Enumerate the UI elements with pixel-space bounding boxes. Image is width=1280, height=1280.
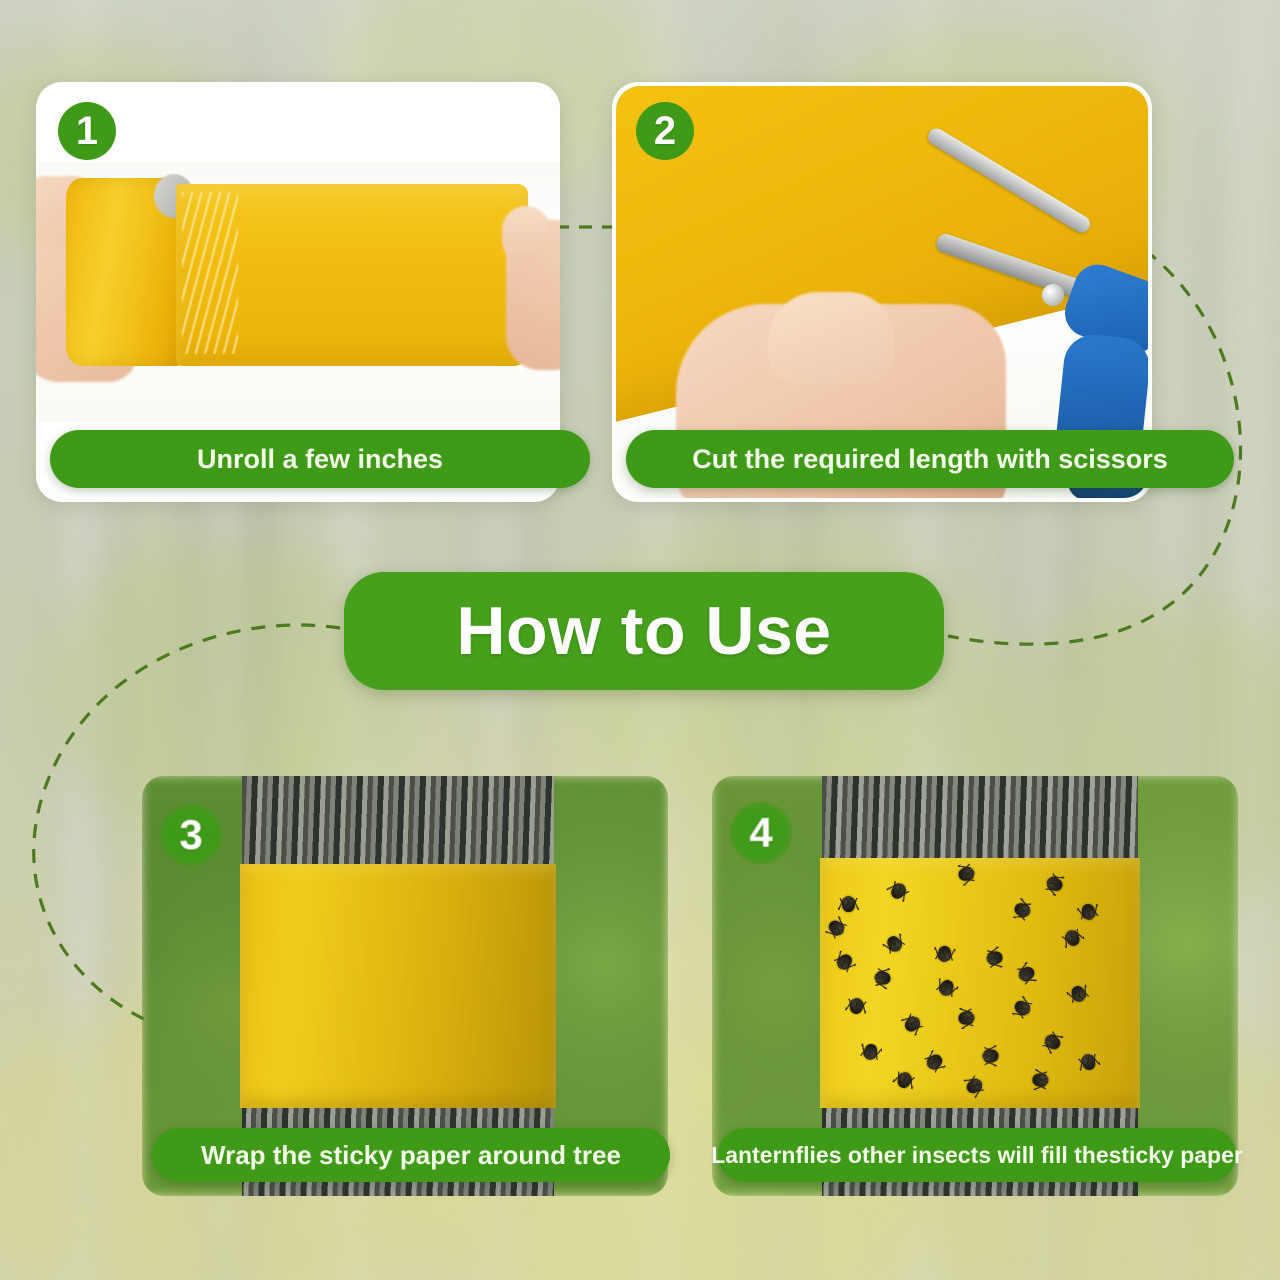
step-card-3[interactable]: 3 Wrap the sticky paper around tree: [142, 776, 668, 1196]
insect-legs: [987, 947, 1003, 970]
insect: [958, 1011, 975, 1026]
insect: [982, 1049, 998, 1062]
insect-legs: [1013, 898, 1032, 922]
insect: [874, 970, 892, 985]
insect-legs: [923, 1050, 945, 1074]
step-badge-3: 3: [160, 804, 222, 866]
insect-legs: [1041, 1030, 1063, 1054]
step-caption-4: Lanternflies other insects will fill the…: [718, 1128, 1236, 1182]
insect-legs: [882, 933, 906, 954]
insect: [1012, 998, 1032, 1017]
insect-legs: [1077, 1053, 1101, 1071]
insect-legs: [984, 1045, 996, 1066]
insect: [1032, 1073, 1049, 1087]
step-caption-3-text: Wrap the sticky paper around tree: [201, 1140, 621, 1171]
insect-legs: [1016, 962, 1036, 986]
insect: [957, 866, 976, 883]
insect: [1044, 875, 1064, 894]
insect-legs: [934, 978, 958, 998]
step-badge-4-number: 4: [749, 809, 772, 857]
insect-legs: [1034, 1069, 1047, 1091]
insect: [826, 918, 847, 938]
insect-legs: [958, 862, 975, 885]
insect-legs: [1045, 872, 1065, 896]
step-caption-2-text: Cut the required length with scissors: [692, 444, 1168, 475]
step-badge-2-number: 2: [654, 109, 676, 154]
step-badge-2: 2: [636, 102, 694, 160]
insect: [1080, 903, 1096, 921]
insect-legs: [825, 916, 848, 940]
step-1-photo: [36, 162, 560, 422]
insect: [924, 1052, 945, 1072]
step-caption-1: Unroll a few inches: [50, 430, 590, 488]
step-caption-1-text: Unroll a few inches: [197, 444, 443, 475]
insect-legs: [901, 1012, 924, 1036]
page-title: How to Use: [344, 572, 944, 690]
insect-legs: [1077, 904, 1100, 920]
insect-legs: [1067, 985, 1091, 1004]
insect-legs: [845, 998, 868, 1013]
step-badge-3-number: 3: [179, 811, 202, 859]
step-badge-1: 1: [58, 102, 116, 160]
step-card-1[interactable]: 1 Unroll a few inches: [36, 82, 560, 502]
insect: [937, 978, 956, 998]
insect-legs: [859, 1043, 882, 1060]
insect-legs: [959, 1007, 973, 1029]
insect: [937, 945, 951, 962]
scissor-pivot: [1042, 284, 1064, 306]
insect-legs: [1012, 996, 1033, 1020]
step-caption-4-text: Lanternflies other insects will fill the…: [711, 1142, 1243, 1169]
page-title-text: How to Use: [456, 592, 831, 670]
insect: [902, 1014, 923, 1034]
insect: [1080, 1052, 1097, 1071]
step-caption-3: Wrap the sticky paper around tree: [152, 1128, 670, 1182]
insect-legs: [875, 967, 890, 990]
insect-legs: [833, 951, 857, 974]
step-badge-4: 4: [730, 802, 792, 864]
insect-legs: [887, 880, 911, 902]
insect: [849, 997, 865, 1015]
insect: [842, 896, 855, 912]
insect: [1016, 965, 1036, 984]
step-caption-2: Cut the required length with scissors: [626, 430, 1234, 488]
insect: [985, 950, 1003, 966]
insect: [862, 1043, 879, 1062]
insect: [896, 1070, 914, 1089]
insect-legs: [838, 898, 859, 910]
step-badge-1-number: 1: [76, 109, 98, 154]
insect: [1013, 901, 1033, 919]
insect: [1042, 1032, 1063, 1052]
step-card-4[interactable]: 4 Lanternflies other insects will fill t…: [712, 776, 1238, 1196]
sticky-tape-band: [240, 864, 556, 1108]
insect: [1063, 928, 1082, 948]
insect: [834, 952, 854, 973]
insect: [885, 934, 905, 954]
insect-legs: [934, 947, 956, 961]
insect: [964, 1076, 984, 1096]
insect-legs: [1060, 928, 1084, 948]
insect-legs: [964, 1074, 986, 1098]
step-card-2[interactable]: 2 Cut the required length with scissors: [612, 82, 1152, 502]
insect: [888, 881, 908, 902]
trapped-insects: [820, 858, 1140, 1108]
insect: [1069, 984, 1087, 1004]
insect-legs: [893, 1071, 917, 1089]
